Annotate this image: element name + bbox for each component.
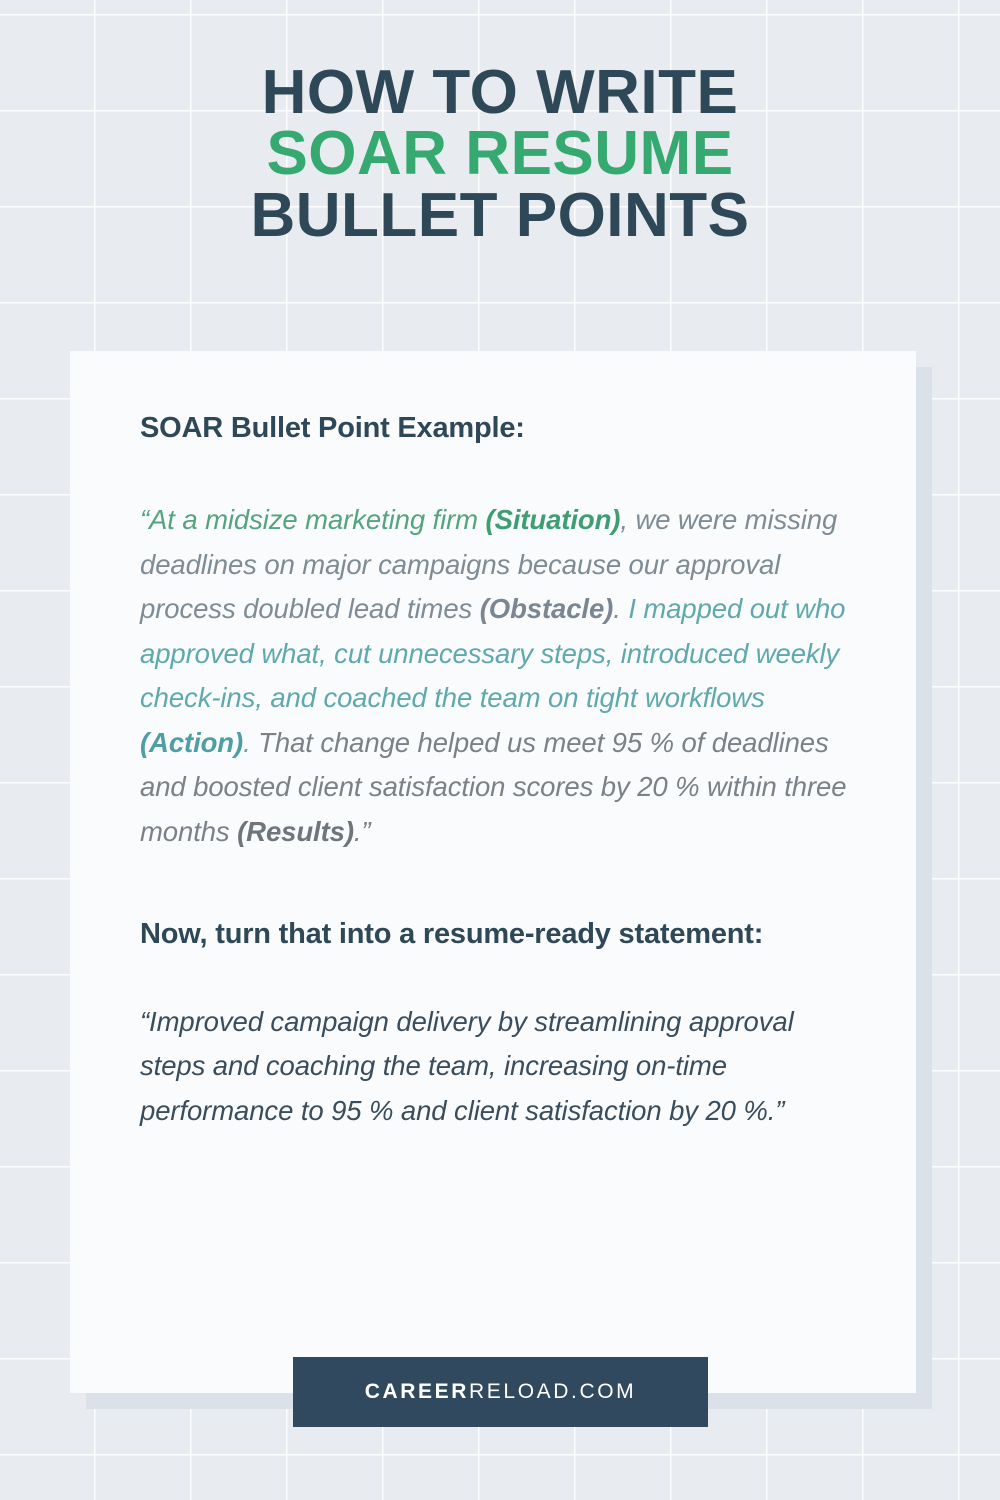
quote-segment-situation: “At a midsize marketing firm xyxy=(140,504,486,535)
example-heading: SOAR Bullet Point Example: xyxy=(140,409,852,448)
quote-segment-results-label: (Results) xyxy=(237,816,354,847)
brand-name-light: RELOAD.COM xyxy=(469,1380,636,1403)
page-title: HOW TO WRITE SOAR RESUME BULLET POINTS xyxy=(0,62,1000,246)
quote-segment-obstacle-label: (Obstacle) xyxy=(480,593,613,624)
soar-example-quote: “At a midsize marketing firm (Situation)… xyxy=(140,498,852,854)
brand-name-strong: CAREER xyxy=(365,1380,469,1403)
quote-segment-results: .” xyxy=(354,816,371,847)
resume-ready-statement: “Improved campaign delivery by streamlin… xyxy=(140,1000,852,1134)
content-card-body: SOAR Bullet Point Example: “At a midsize… xyxy=(140,409,852,1133)
content-card: SOAR Bullet Point Example: “At a midsize… xyxy=(70,351,916,1393)
brand-footer-text: CAREERRELOAD.COM xyxy=(365,1380,636,1404)
title-line-3: BULLET POINTS xyxy=(0,185,1000,246)
quote-segment-situation-label: (Situation) xyxy=(486,504,621,535)
quote-segment-action-label: (Action) xyxy=(140,727,243,758)
infographic-poster: HOW TO WRITE SOAR RESUME BULLET POINTS S… xyxy=(0,0,1000,1500)
resume-statement-heading: Now, turn that into a resume-ready state… xyxy=(140,915,852,954)
quote-segment-action: . xyxy=(243,727,258,758)
title-line-1: HOW TO WRITE xyxy=(0,62,1000,123)
title-line-2: SOAR RESUME xyxy=(0,123,1000,184)
brand-footer-badge[interactable]: CAREERRELOAD.COM xyxy=(293,1357,708,1427)
quote-segment-obstacle: . xyxy=(613,593,628,624)
